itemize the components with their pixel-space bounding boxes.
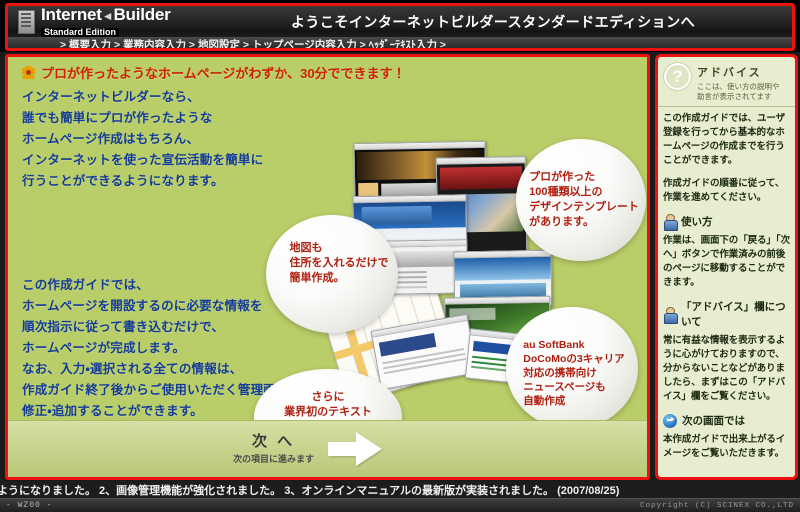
header-frame: Internet◄Builder Standard Edition ようこそイン… [5,3,795,51]
advice-paragraph: 作成ガイドの順番に従って、作業を進めてください。 [663,177,790,205]
status-bar-copyright: Copyright (C) SCINEX CO.,LTD [640,502,794,510]
news-ticker: るようになりました。 2、画像管理機能が強化されました。 3、オンラインマニュア… [0,481,800,498]
advice-section-title: 「アドバイス」欄について [681,299,790,329]
advice-section-body: 作業は、画面下の「戻る」「次へ」ボタンで作業済みの前後のページに移動することがで… [663,234,790,290]
advice-paragraph: この作成ガイドでは、ユーザ登録を行ってから基本的なホームページの作成までを行うこ… [663,112,790,168]
callout-bubble-template: プロが作った 100種類以上の デザインテンプレート があります。 [516,139,646,261]
next-button-inner: 次 へ 次の項目に進みます [233,432,382,466]
callout-bubble-mobile: au SoftBank DoCoMoの3キャリア 対応の携帯向け ニュースページ… [506,307,638,429]
next-button-labels: 次 へ 次の項目に進みます [233,433,314,465]
breadcrumb-text: > 概要入力 > 業務内容入力 > 地図設定 > トップページ内容入力 > ﾍｯ… [60,37,446,52]
news-ticker-text: るようになりました。 2、画像管理機能が強化されました。 3、オンラインマニュア… [0,482,619,498]
next-button-sublabel: 次の項目に進みます [233,454,314,465]
advice-section-heading-next: 次の画面では [663,413,790,428]
page-title: ようこそインターネットビルダースタンダードエディションへ [203,10,783,34]
callout-bubble-map: 地図も 住所を入れるだけで 簡単作成。 [266,215,398,333]
logo-word-builder: Builder [113,5,170,24]
advice-panel-body: この作成ガイドでは、ユーザ登録を行ってから基本的なホームページの作成までを行うこ… [658,107,795,461]
application-window: Internet◄Builder Standard Edition ようこそイン… [0,0,800,512]
person-icon [663,307,676,322]
callout-bubble-map-text: 地図も 住所を入れるだけで 簡単作成。 [290,241,389,286]
logo-title: Internet◄Builder [41,6,171,23]
breadcrumb[interactable]: > 概要入力 > 業務内容入力 > 地図設定 > トップページ内容入力 > ﾍｯ… [8,37,792,51]
advice-section-heading-about: 「アドバイス」欄について [663,299,790,329]
advice-panel: ? アドバイス ここは、使い方の説明や 助言が表示されてます この作成ガイドでは… [655,54,798,480]
status-bar-left: - WZ00 - [6,501,52,510]
callout-bubble-template-text: プロが作った 100種類以上の デザインテンプレート があります。 [529,170,639,230]
advice-section-heading-usage: 使い方 [663,214,790,229]
logo-text: Internet◄Builder Standard Edition [41,6,171,39]
main-headline-text: プロが作ったようなホームページがわずか、30分でできます！ [41,63,406,82]
flower-icon [22,66,35,79]
advice-panel-title: アドバイス [697,64,780,80]
header-bar: Internet◄Builder Standard Edition ようこそイン… [0,0,800,52]
main-content-panel: プロが作ったようなホームページがわずか、30分でできます！ インターネットビルダ… [5,54,650,480]
app-logo: Internet◄Builder Standard Edition [16,7,216,37]
logo-triangle-icon: ◄ [102,9,114,23]
advice-header-text: アドバイス ここは、使い方の説明や 助言が表示されてます [697,63,780,102]
right-arrow-icon [328,432,382,466]
advice-section-title: 使い方 [681,214,713,229]
question-mark-icon: ? [664,63,691,90]
next-button-label: 次 へ [233,433,314,452]
logo-word-internet: Internet [41,5,102,24]
advice-panel-subtitle: ここは、使い方の説明や 助言が表示されてます [697,82,780,102]
next-arrow-icon [663,414,677,428]
advice-section-body: 常に有益な情報を表示するように心がけておりますので、分からないことなどがありまし… [663,334,790,404]
logo-edition: Standard Edition [41,28,119,37]
main-headline: プロが作ったようなホームページがわずか、30分でできます！ [22,63,406,82]
advice-section-body: 本作成ガイドで出来上がるイメージをご覧いただきます。 [663,433,790,461]
next-button[interactable]: 次 へ 次の項目に進みます [8,420,647,477]
intro-paragraph-1: インターネットビルダーなら、 誰でも簡単にプロが作ったような ホームページ作成は… [22,87,263,192]
advice-section-title: 次の画面では [682,413,745,428]
advice-panel-header: ? アドバイス ここは、使い方の説明や 助言が表示されてます [658,57,795,107]
callout-bubble-mobile-text: au SoftBank DoCoMoの3キャリア 対応の携帯向け ニュースページ… [523,338,625,408]
status-bar: - WZ00 - Copyright (C) SCINEX CO.,LTD [0,498,800,512]
main-content-inner: プロが作ったようなホームページがわずか、30分でできます！ インターネットビルダ… [8,57,647,477]
logo-mark-icon [18,10,35,34]
person-icon [663,214,676,229]
